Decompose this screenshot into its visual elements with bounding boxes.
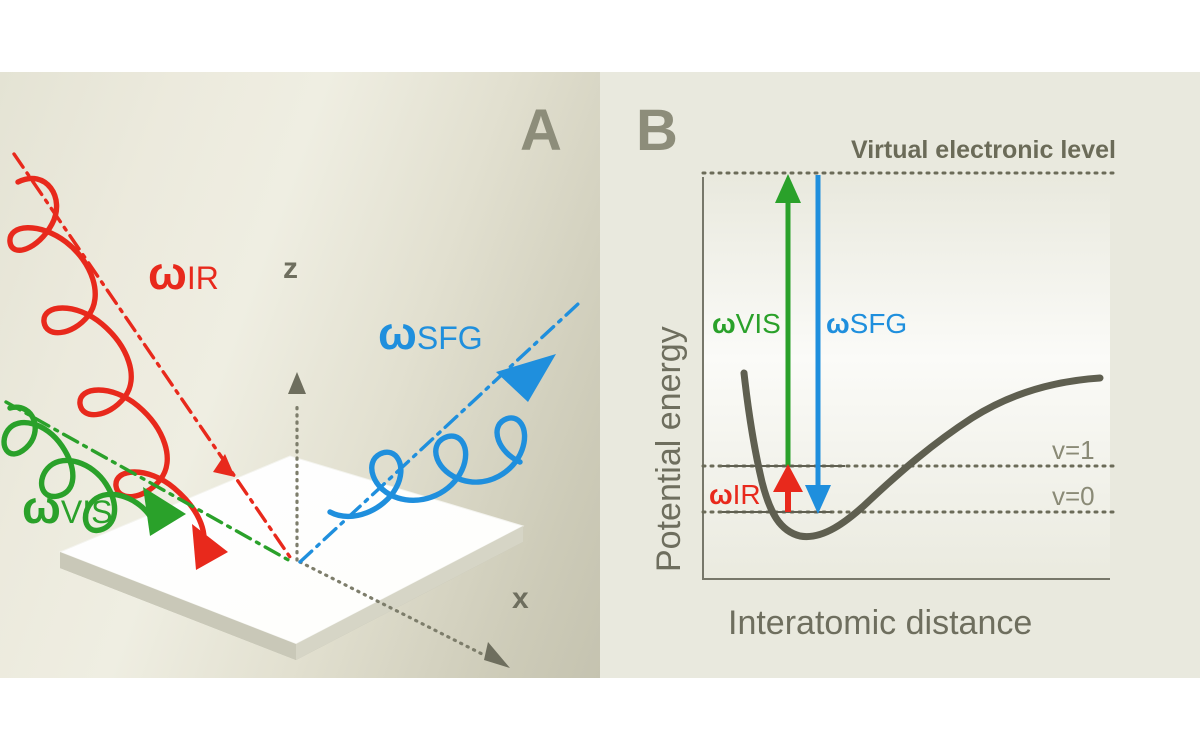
panel-a-label: A [520,102,562,160]
v0-level-label: v=0 [1052,483,1095,509]
virtual-level-label: Virtual electronic level [851,138,1116,163]
z-axis-label: z [283,254,298,284]
omega-symbol: ω [22,481,61,533]
omega-vis-label: ωVIS [22,484,112,530]
omega-symbol: ω [826,308,850,339]
panel-a: A ωIR ωVIS ωSFG z x [0,72,600,678]
omega-ir-label: ωIR [148,250,219,296]
omega-symbol: ω [148,247,187,299]
figure-root: A ωIR ωVIS ωSFG z x [0,0,1200,750]
omega-vis-label-b: ωVIS [712,310,781,338]
omega-subscript: VIS [61,494,113,530]
omega-sfg-label: ωSFG [378,310,483,356]
v1-level-label: v=1 [1052,437,1095,463]
omega-sfg-label-b: ωSFG [826,310,907,338]
x-axis-title: Interatomic distance [728,606,1032,640]
omega-subscript: SFG [417,320,483,356]
panel-b: B Virtual electronic level ωVIS ωSFG ωIR… [600,72,1200,678]
panel-b-label: B [636,102,678,160]
panel-a-graphics [0,72,600,678]
omega-symbol: ω [709,479,733,510]
omega-symbol: ω [712,308,736,339]
omega-subscript: VIS [736,308,781,339]
x-axis-label: x [512,584,529,614]
omega-subscript: IR [187,260,219,296]
omega-ir-label-b: ωIR [709,481,761,509]
omega-subscript: SFG [850,308,908,339]
plot-background [702,177,1110,580]
y-axis-title: Potential energy [652,326,686,572]
omega-symbol: ω [378,307,417,359]
omega-subscript: IR [733,479,761,510]
figure-canvas: A ωIR ωVIS ωSFG z x [0,72,1200,678]
